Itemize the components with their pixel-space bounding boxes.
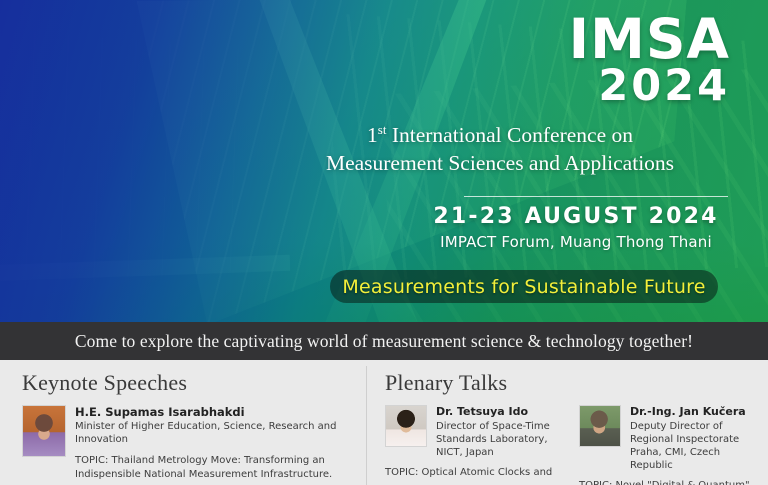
plenary-column: Plenary Talks Dr. Tetsuya Ido Director o… — [367, 360, 768, 485]
conference-page: IMSA 2024 1st International Conference o… — [0, 0, 768, 485]
title-divider-rule — [464, 196, 728, 197]
speakers-section: Keynote Speeches H.E. Supamas Isarabhakd… — [0, 360, 768, 485]
conference-title: 1st International Conference on Measurem… — [270, 122, 730, 177]
speaker-role: Deputy Director of Regional Inspectorate… — [630, 420, 757, 472]
keynote-heading: Keynote Speeches — [22, 370, 366, 396]
invitation-band: Come to explore the captivating world of… — [0, 322, 768, 360]
conference-venue: IMPACT Forum, Muang Thong Thani — [424, 233, 728, 251]
conference-title-line1: 1st International Conference on — [270, 122, 730, 150]
conference-title-line1-rest: International Conference on — [386, 123, 633, 147]
speaker-topic: TOPIC: Novel "Digital & Quantum" Impedan… — [579, 479, 757, 485]
hero-banner: IMSA 2024 1st International Conference o… — [0, 0, 768, 322]
plenary-speaker-header: Dr. Tetsuya Ido Director of Space-Time S… — [385, 405, 563, 459]
keynote-speaker-item[interactable]: H.E. Supamas Isarabhakdi Minister of Hig… — [22, 405, 366, 481]
conference-date: 21-23 AUGUST 2024 — [424, 204, 728, 229]
speaker-role: Minister of Higher Education, Science, R… — [75, 420, 366, 446]
plenary-speaker-body: Dr. Tetsuya Ido Director of Space-Time S… — [436, 405, 563, 459]
plenary-speaker-body: Dr.-Ing. Jan Kučera Deputy Director of R… — [630, 405, 757, 472]
speaker-role: Director of Space-Time Standards Laborat… — [436, 420, 563, 459]
keynote-speaker-body: H.E. Supamas Isarabhakdi Minister of Hig… — [75, 405, 366, 481]
speaker-portrait-ido — [385, 405, 427, 447]
plenary-heading: Plenary Talks — [385, 370, 768, 396]
speaker-topic: TOPIC: Optical Atomic Clocks and — [385, 466, 563, 480]
speaker-name: Dr. Tetsuya Ido — [436, 405, 563, 419]
speaker-name: H.E. Supamas Isarabhakdi — [75, 405, 366, 419]
speaker-name: Dr.-Ing. Jan Kučera — [630, 405, 757, 419]
logo-year: 2024 — [569, 67, 730, 107]
speaker-topic: TOPIC: Thailand Metrology Move: Transfor… — [75, 454, 366, 481]
tagline-text: Measurements for Sustainable Future — [342, 276, 705, 298]
conference-title-line2: Measurement Sciences and Applications — [270, 150, 730, 178]
invitation-text: Come to explore the captivating world of… — [75, 331, 693, 352]
ordinal-number: 1 — [367, 123, 378, 147]
plenary-speaker-header: Dr.-Ing. Jan Kučera Deputy Director of R… — [579, 405, 757, 472]
keynote-column: Keynote Speeches H.E. Supamas Isarabhakd… — [0, 360, 366, 485]
plenary-speaker-list: Dr. Tetsuya Ido Director of Space-Time S… — [385, 405, 768, 485]
speaker-portrait-kucera — [579, 405, 621, 447]
imsa-logo: IMSA 2024 — [569, 14, 730, 106]
plenary-speaker-item[interactable]: Dr. Tetsuya Ido Director of Space-Time S… — [385, 405, 563, 485]
plenary-speaker-item[interactable]: Dr.-Ing. Jan Kučera Deputy Director of R… — [579, 405, 757, 485]
speaker-portrait-supamas — [22, 405, 66, 457]
logo-wordmark: IMSA — [569, 14, 730, 65]
tagline-pill: Measurements for Sustainable Future — [330, 270, 718, 303]
